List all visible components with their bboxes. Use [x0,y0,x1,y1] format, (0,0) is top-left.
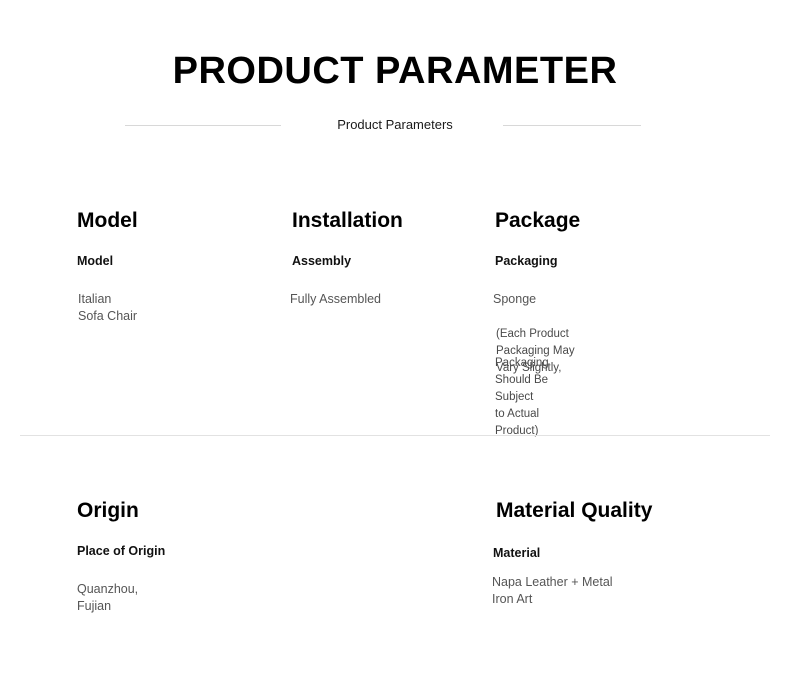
spec-label-place-of-origin: Place of Origin [77,542,165,560]
spec-label-packaging: Packaging [495,252,558,270]
product-parameter-page: PRODUCT PARAMETER Product Parameters Mod… [0,0,790,700]
spec-heading-package: Package [495,208,580,234]
spec-label-material: Material [493,544,540,562]
spec-block-model: Model Model Italian Sofa Chair [77,208,138,234]
subtitle-row: Product Parameters [0,114,790,138]
spec-value-place-of-origin: Quanzhou, Fujian [77,581,139,615]
page-title: PRODUCT PARAMETER [0,52,790,90]
spec-value-model: Italian Sofa Chair [78,291,138,325]
spec-block-package: Package Packaging Sponge (Each Product P… [495,208,580,234]
spec-label-model: Model [77,252,113,270]
spec-block-origin: Origin Place of Origin Quanzhou, Fujian [77,498,139,524]
page-header: PRODUCT PARAMETER [0,52,790,90]
spec-heading-material-quality: Material Quality [496,498,652,524]
section-divider [20,435,770,436]
spec-heading-origin: Origin [77,498,139,524]
spec-block-installation: Installation Assembly Fully Assembled [292,208,403,234]
spec-label-assembly: Assembly [292,252,351,270]
spec-value-packaging: Sponge [493,291,536,308]
spec-block-material-quality: Material Quality Material Napa Leather +… [496,498,652,524]
page-subtitle: Product Parameters [0,114,790,136]
spec-value-material: Napa Leather + Metal Iron Art [492,574,613,608]
spec-heading-model: Model [77,208,138,234]
spec-note-packaging-line2: Packaging Should Be Subject to Actual Pr… [495,355,580,440]
spec-value-assembly: Fully Assembled [290,291,381,308]
spec-heading-installation: Installation [292,208,403,234]
